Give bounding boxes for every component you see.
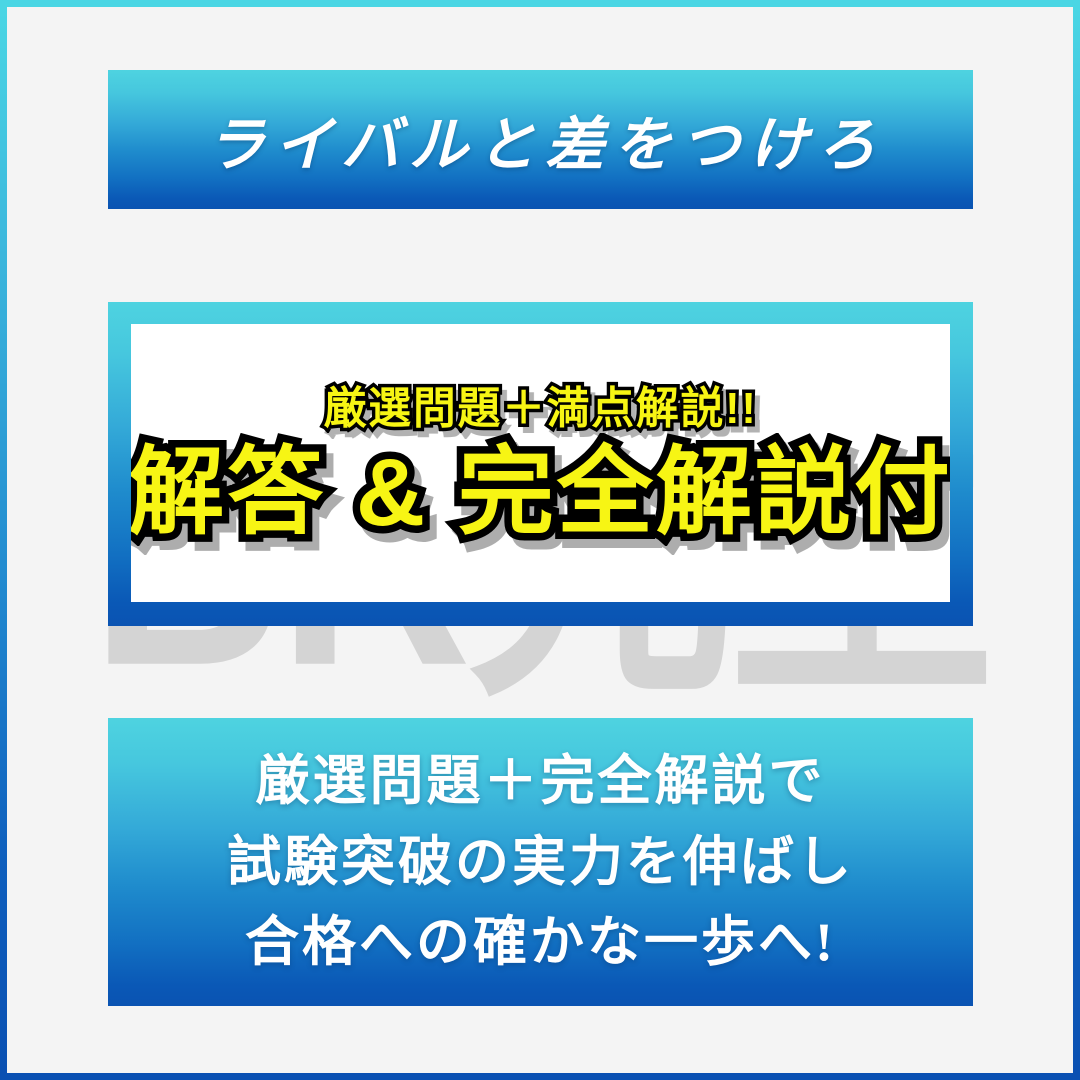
- bottom-banner-line-1: 厳選問題＋完全解説で: [256, 743, 826, 820]
- bottom-banner: 厳選問題＋完全解説で 試験突破の実力を伸ばし 合格への確かな一歩へ!: [108, 718, 973, 1006]
- feature-card-inner: 厳選問題＋満点解説!! 解答 & 完全解説付: [131, 324, 950, 602]
- feature-headline: 解答 & 完全解説付: [131, 444, 950, 542]
- poster-canvas: BR先生 ライバルと差をつけろ 厳選問題＋満点解説!! 解答 & 完全解説付 厳…: [0, 0, 1080, 1080]
- top-banner: ライバルと差をつけろ: [108, 70, 973, 209]
- bottom-banner-line-3: 合格への確かな一歩へ!: [245, 904, 836, 981]
- bottom-banner-line-2: 試験突破の実力を伸ばし: [227, 824, 854, 901]
- feature-subheadline: 厳選問題＋満点解説!!: [324, 386, 758, 432]
- feature-card: 厳選問題＋満点解説!! 解答 & 完全解説付: [108, 302, 973, 626]
- top-banner-headline: ライバルと差をつけろ: [206, 97, 885, 182]
